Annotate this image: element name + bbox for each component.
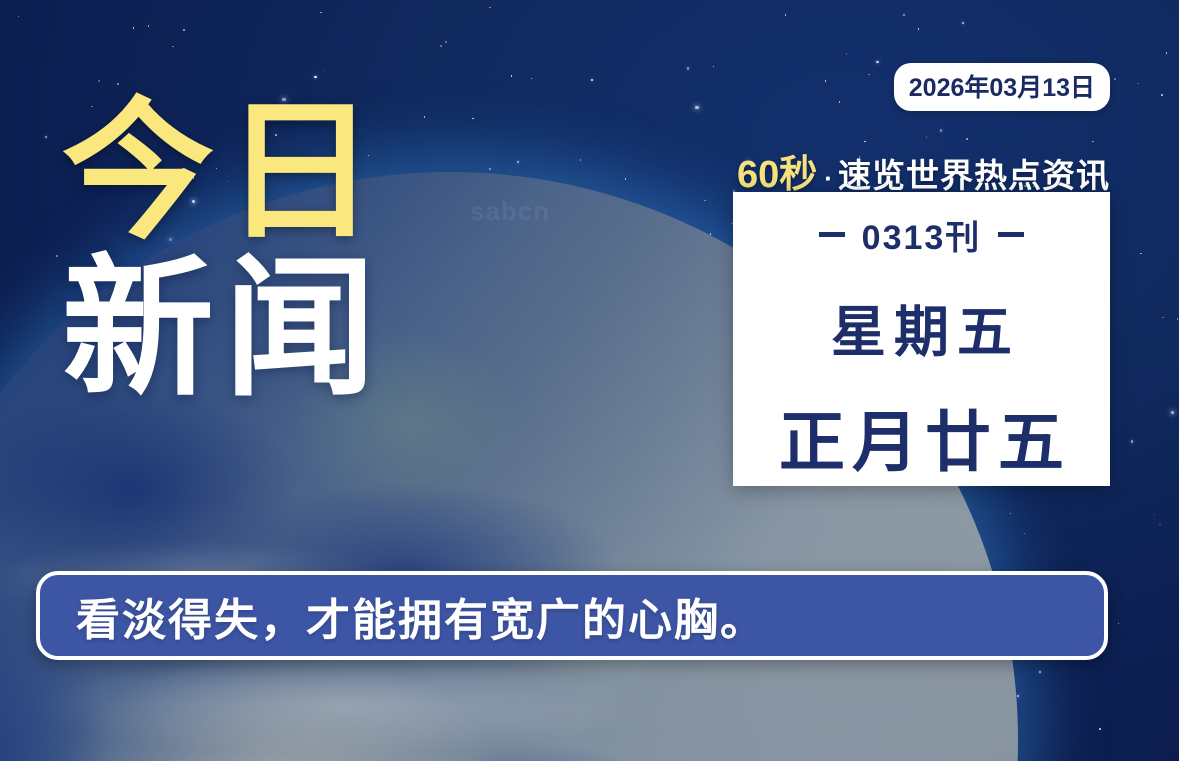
title-line-today: 今日 <box>62 98 386 247</box>
info-card: 0313刊 星期五 正月廿五 <box>733 192 1110 486</box>
weekday-label: 星期五 <box>823 287 1020 367</box>
issue-dash-left-icon <box>819 232 845 237</box>
issue-number: 0313刊 <box>862 210 982 259</box>
lunar-date-label: 正月廿五 <box>772 389 1071 485</box>
poster-title: 今日 新闻 <box>62 98 386 404</box>
issue-row: 0313刊 <box>819 210 1025 259</box>
news-poster: sabcn 今日 新闻 2026年03月13日 60秒 · 速览世界热点资讯 0… <box>0 0 1179 761</box>
tagline-duration: 60秒 <box>737 143 817 198</box>
title-line-news: 新闻 <box>62 255 386 404</box>
issue-dash-right-icon <box>998 232 1024 237</box>
quote-text: 看淡得失，才能拥有宽广的心胸。 <box>40 584 766 648</box>
date-badge: 2026年03月13日 <box>894 63 1110 111</box>
tagline: 60秒 · 速览世界热点资讯 <box>737 143 1110 198</box>
tagline-description: 速览世界热点资讯 <box>838 149 1110 197</box>
quote-banner: 看淡得失，才能拥有宽广的心胸。 <box>36 571 1108 660</box>
tagline-separator-dot: · <box>824 163 833 194</box>
